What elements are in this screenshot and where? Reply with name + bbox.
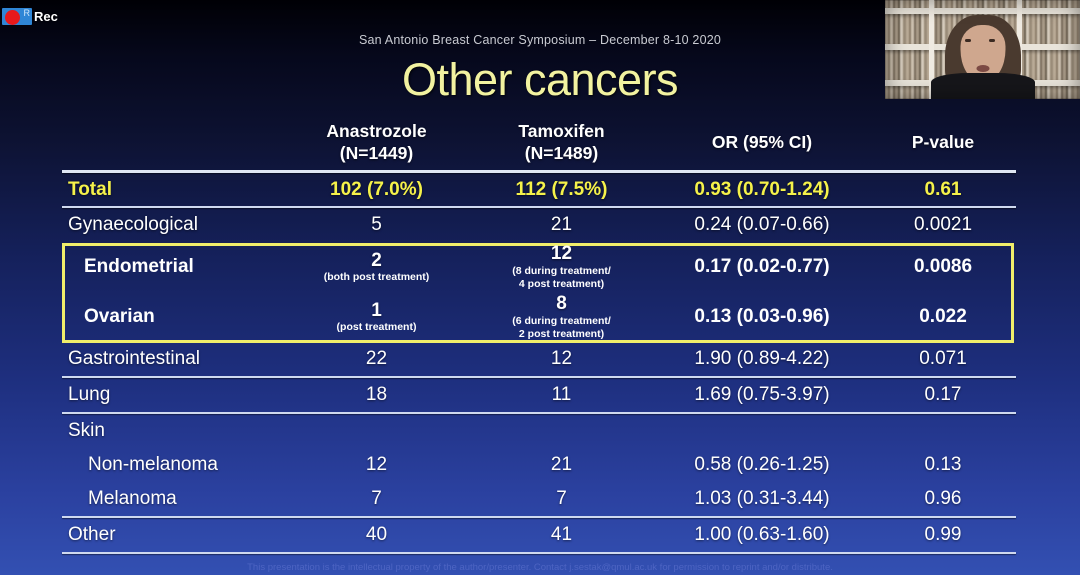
cell-ovarian-anastrozole: 1 (post treatment) (284, 301, 469, 334)
table-rule-bottom (62, 552, 1016, 554)
cell-ovarian-tamoxifen: 8 (6 during treatment/ 2 post treatment) (469, 294, 654, 340)
cell-ovarian-pvalue: 0.022 (870, 306, 1016, 328)
table-row-non-melanoma: Non-melanoma 12 21 0.58 (0.26-1.25) 0.13 (62, 448, 1016, 482)
cell-total-pvalue: 0.61 (870, 179, 1016, 201)
header-anastrozole-label: Anastrozole (326, 121, 426, 141)
header-pvalue-label: P-value (912, 132, 974, 152)
header-anastrozole-n: (N=1449) (284, 142, 469, 164)
cell-other-anastrozole: 40 (284, 524, 469, 546)
cell-total-or: 0.93 (0.70-1.24) (654, 179, 870, 201)
cell-non-melanoma-pvalue: 0.13 (870, 454, 1016, 476)
cell-endometrial-anastrozole-value: 2 (371, 251, 382, 271)
results-table: Anastrozole (N=1449) Tamoxifen (N=1489) … (62, 118, 1016, 554)
cell-total-label: Total (62, 179, 284, 201)
cell-other-tamoxifen: 41 (469, 524, 654, 546)
screen-capture: San Antonio Breast Cancer Symposium – De… (0, 0, 1080, 575)
table-row-total: Total 102 (7.0%) 112 (7.5%) 0.93 (0.70-1… (62, 173, 1016, 206)
cell-ovarian-anastrozole-note: (post treatment) (337, 322, 417, 333)
header-or-label: OR (95% CI) (712, 132, 812, 152)
cell-endometrial-label: Endometrial (62, 256, 284, 278)
table-row-lung: Lung 18 11 1.69 (0.75-3.97) 0.17 (62, 378, 1016, 412)
header-cell-anastrozole: Anastrozole (N=1449) (284, 120, 469, 164)
cell-ovarian-anastrozole-value: 1 (371, 301, 382, 321)
cell-non-melanoma-tamoxifen: 21 (469, 454, 654, 476)
recording-label: Rec (34, 10, 58, 24)
table-row-gynaecological: Gynaecological 5 21 0.24 (0.07-0.66) 0.0… (62, 208, 1016, 242)
mouth-shape (976, 65, 989, 72)
cell-non-melanoma-label: Non-melanoma (62, 454, 284, 476)
presenter-figure (929, 13, 1037, 99)
cell-ovarian-tamoxifen-note-line1: (6 during treatment/ (512, 316, 611, 327)
cell-other-label: Other (62, 524, 284, 546)
cell-skin-label: Skin (62, 420, 284, 442)
cell-gastrointestinal-label: Gastrointestinal (62, 348, 284, 370)
torso-shape (931, 73, 1035, 99)
cell-lung-tamoxifen: 11 (469, 384, 654, 406)
record-icon: R (2, 8, 32, 25)
table-row-skin: Skin (62, 414, 1016, 448)
header-cell-pvalue: P-value (870, 120, 1016, 153)
cell-melanoma-anastrozole: 7 (284, 488, 469, 510)
cell-gastrointestinal-anastrozole: 22 (284, 348, 469, 370)
cell-ovarian-tamoxifen-value: 8 (556, 294, 567, 314)
table-row-melanoma: Melanoma 7 7 1.03 (0.31-3.44) 0.96 (62, 482, 1016, 516)
table-row-ovarian: Ovarian 1 (post treatment) 8 (6 during t… (62, 292, 1016, 342)
table-header-row: Anastrozole (N=1449) Tamoxifen (N=1489) … (62, 118, 1016, 170)
cell-endometrial-tamoxifen-note-line1: (8 during treatment/ (512, 266, 611, 277)
cell-non-melanoma-anastrozole: 12 (284, 454, 469, 476)
cell-total-tamoxifen: 112 (7.5%) (469, 179, 654, 201)
cell-non-melanoma-or: 0.58 (0.26-1.25) (654, 454, 870, 476)
header-tamoxifen-n: (N=1489) (469, 142, 654, 164)
presenter-video-pip[interactable] (885, 0, 1080, 99)
cell-gynaecological-tamoxifen: 21 (469, 214, 654, 236)
table-row-gastrointestinal: Gastrointestinal 22 12 1.90 (0.89-4.22) … (62, 342, 1016, 376)
cell-lung-label: Lung (62, 384, 284, 406)
cell-endometrial-tamoxifen-value: 12 (551, 244, 572, 264)
cell-lung-or: 1.69 (0.75-3.97) (654, 384, 870, 406)
cell-melanoma-label: Melanoma (62, 488, 284, 510)
cell-ovarian-or: 0.13 (0.03-0.96) (654, 306, 870, 328)
cell-melanoma-or: 1.03 (0.31-3.44) (654, 488, 870, 510)
cell-endometrial-or: 0.17 (0.02-0.77) (654, 256, 870, 278)
cell-ovarian-label: Ovarian (62, 306, 284, 328)
cell-gastrointestinal-or: 1.90 (0.89-4.22) (654, 348, 870, 370)
cell-ovarian-tamoxifen-note-line2: 2 post treatment) (519, 329, 604, 340)
cell-gynaecological-pvalue: 0.0021 (870, 214, 1016, 236)
cell-gastrointestinal-tamoxifen: 12 (469, 348, 654, 370)
cell-gynaecological-or: 0.24 (0.07-0.66) (654, 214, 870, 236)
record-dot-icon (5, 10, 20, 25)
recording-indicator[interactable]: R Rec (2, 8, 58, 25)
cell-endometrial-tamoxifen: 12 (8 during treatment/ 4 post treatment… (469, 244, 654, 290)
cell-melanoma-tamoxifen: 7 (469, 488, 654, 510)
cell-endometrial-anastrozole: 2 (both post treatment) (284, 251, 469, 284)
cell-total-anastrozole: 102 (7.0%) (284, 179, 469, 201)
header-cell-tamoxifen: Tamoxifen (N=1489) (469, 120, 654, 164)
cell-endometrial-pvalue: 0.0086 (870, 256, 1016, 278)
header-cell-or: OR (95% CI) (654, 120, 870, 153)
header-tamoxifen-label: Tamoxifen (518, 121, 604, 141)
table-row-endometrial: Endometrial 2 (both post treatment) 12 (… (62, 242, 1016, 292)
slide-footer-note: This presentation is the intellectual pr… (0, 562, 1080, 573)
cell-gastrointestinal-pvalue: 0.071 (870, 348, 1016, 370)
cell-lung-pvalue: 0.17 (870, 384, 1016, 406)
cell-lung-anastrozole: 18 (284, 384, 469, 406)
cell-endometrial-tamoxifen-note-line2: 4 post treatment) (519, 279, 604, 290)
eye-left (965, 39, 971, 42)
cell-gynaecological-anastrozole: 5 (284, 214, 469, 236)
cell-endometrial-anastrozole-note: (both post treatment) (324, 272, 430, 283)
table-row-other: Other 40 41 1.00 (0.63-1.60) 0.99 (62, 518, 1016, 552)
cell-other-pvalue: 0.99 (870, 524, 1016, 546)
cell-melanoma-pvalue: 0.96 (870, 488, 1016, 510)
eye-right (989, 39, 995, 42)
record-badge-glyph: R (24, 8, 31, 18)
cell-gynaecological-label: Gynaecological (62, 214, 284, 236)
cell-other-or: 1.00 (0.63-1.60) (654, 524, 870, 546)
